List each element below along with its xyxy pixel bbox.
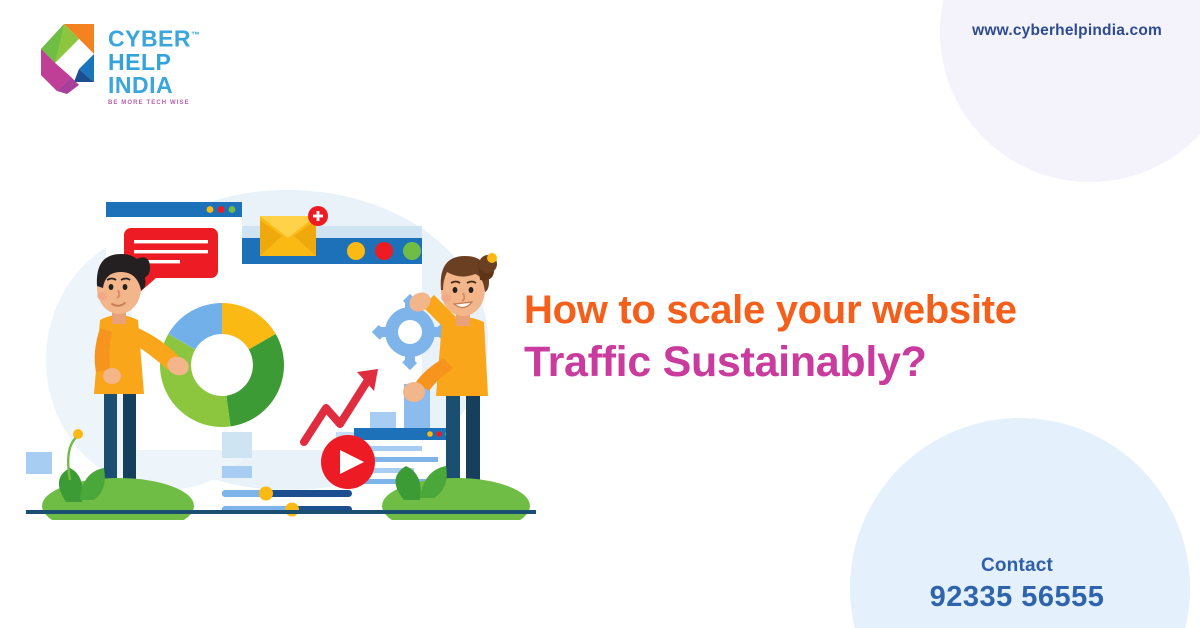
logo-line-india: INDIA bbox=[108, 74, 201, 97]
contact-label: Contact bbox=[902, 555, 1132, 577]
logo-tagline: BE MORE TECH WISE bbox=[108, 100, 201, 106]
brand-logo[interactable]: CYBER™ HELP INDIA BE MORE TECH WISE bbox=[38, 22, 201, 106]
headline-line-2: Traffic Sustainably? bbox=[524, 336, 1144, 388]
logo-wordmark: CYBER™ HELP INDIA BE MORE TECH WISE bbox=[108, 22, 201, 106]
contact-phone-number[interactable]: 92335 56555 bbox=[902, 581, 1132, 614]
headline-line-1: How to scale your website bbox=[524, 286, 1144, 334]
trademark-symbol: ™ bbox=[191, 30, 201, 40]
logo-line-help: HELP bbox=[108, 51, 201, 74]
logo-line-cyber: CYBER™ bbox=[108, 24, 201, 51]
headline: How to scale your website Traffic Sustai… bbox=[524, 286, 1144, 388]
marketing-banner: CYBER™ HELP INDIA BE MORE TECH WISE www.… bbox=[0, 0, 1200, 628]
website-url[interactable]: www.cyberhelpindia.com bbox=[972, 22, 1162, 40]
cyber-help-india-logo-mark-icon bbox=[38, 22, 100, 94]
website-traffic-illustration bbox=[26, 180, 536, 520]
contact-block: Contact 92335 56555 bbox=[902, 555, 1132, 614]
